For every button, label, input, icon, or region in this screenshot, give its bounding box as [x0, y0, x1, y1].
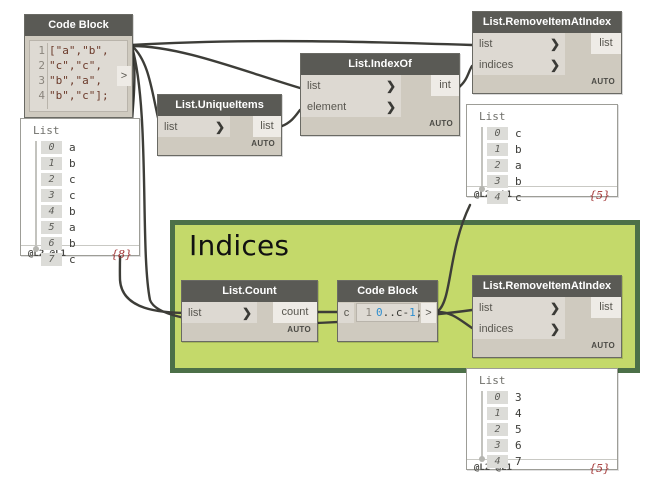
list-item: 3c	[41, 187, 133, 203]
list-item: 2c	[41, 171, 133, 187]
list-value: b	[515, 143, 522, 156]
port-label: list	[164, 121, 177, 133]
chevron-right-icon: ❯	[242, 307, 252, 319]
list-value: 3	[515, 391, 522, 404]
chevron-right-icon: ❯	[550, 38, 560, 50]
code-token: 1	[409, 306, 416, 319]
list-index: 2	[41, 173, 62, 186]
list-value: a	[69, 141, 76, 154]
list-item: 4b	[41, 203, 133, 219]
line-number: 1	[32, 43, 45, 58]
output-port-list[interactable]: list	[591, 297, 621, 318]
watch-removed-top[interactable]: List 0c 1b 2a 3b 4c @L2 @L1 {5}	[466, 104, 618, 197]
port-label: c	[344, 307, 350, 319]
list-item: 4c	[487, 189, 611, 205]
watch-type-label: List	[479, 110, 611, 123]
list-item: 1b	[41, 155, 133, 171]
input-port-element[interactable]: element ❯	[301, 96, 401, 117]
list-value: b	[515, 175, 522, 188]
code-editor[interactable]: 10..c-1;	[356, 303, 419, 322]
group-title: Indices	[175, 225, 635, 262]
node-title: List.RemoveItemAtIndex	[473, 12, 621, 33]
watch-type-label: List	[479, 374, 611, 387]
list-index: 4	[41, 205, 62, 218]
list-index: 0	[487, 391, 508, 404]
port-label: list	[479, 38, 492, 50]
node-list-count[interactable]: List.Count list ❯ count AUTO	[181, 280, 318, 342]
list-value: c	[515, 191, 522, 204]
list-value: b	[69, 157, 76, 170]
code-text: "b","a",	[49, 74, 102, 87]
code-text: "c","c",	[49, 59, 102, 72]
port-label: element	[307, 101, 346, 113]
list-index: 1	[41, 157, 62, 170]
list-index: 1	[487, 407, 508, 420]
node-lacing-label: AUTO	[473, 75, 621, 88]
list-item: 1b	[487, 141, 611, 157]
code-text: ["a","b",	[49, 44, 109, 57]
code-token: c	[396, 306, 403, 319]
list-item: 14	[487, 405, 611, 421]
list-index: 0	[41, 141, 62, 154]
node-list-removeitematindex-top[interactable]: List.RemoveItemAtIndex list ❯ list indic…	[472, 11, 622, 94]
input-port-indices[interactable]: indices ❯	[473, 54, 565, 75]
node-lacing-label: AUTO	[182, 323, 317, 336]
wire-cb1-to-removetop-list	[132, 41, 472, 45]
list-item: 6b	[41, 235, 133, 251]
list-item: 7c	[41, 251, 133, 267]
node-lacing-label: AUTO	[301, 117, 459, 130]
chevron-right-icon: ❯	[386, 80, 396, 92]
list-item: 36	[487, 437, 611, 453]
node-code-block-1[interactable]: Code Block 1["a","b", 2"c","c", 3"b","a"…	[24, 14, 133, 118]
list-value: 6	[515, 439, 522, 452]
input-port-list[interactable]: list ❯	[182, 302, 257, 323]
list-value: c	[515, 127, 522, 140]
chevron-right-icon: ❯	[215, 121, 225, 133]
code-token: ..	[383, 306, 396, 319]
chevron-right-icon: ❯	[550, 323, 560, 335]
list-item: 03	[487, 389, 611, 405]
code-line: 1["a","b",	[30, 43, 127, 58]
input-port-list[interactable]: list ❯	[473, 297, 565, 318]
list-spine	[481, 391, 483, 459]
watch-body: List 0c 1b 2a 3b 4c	[467, 105, 617, 186]
port-label: list	[188, 307, 201, 319]
list-index: 3	[41, 189, 62, 202]
list-item: 2a	[487, 157, 611, 173]
code-text: "b","c"];	[49, 89, 109, 102]
list-value: a	[69, 221, 76, 234]
input-port-c[interactable]: c	[338, 303, 354, 323]
list-value: a	[515, 159, 522, 172]
port-label: indices	[479, 323, 513, 335]
node-code-block-2[interactable]: Code Block c 10..c-1; >	[337, 280, 438, 342]
wire-indexof-to-removetop-indices	[458, 66, 472, 88]
code-token: 0	[376, 306, 383, 319]
list-value: c	[69, 189, 76, 202]
list-spine	[35, 141, 37, 249]
watch-type-label: List	[33, 124, 133, 137]
line-number: 4	[32, 88, 45, 103]
list-value: 4	[515, 407, 522, 420]
output-port-list[interactable]: list	[253, 116, 281, 137]
gutter-divider	[47, 43, 48, 109]
output-port-int[interactable]: int	[431, 75, 459, 96]
wire-cb1-to-unique-list	[132, 46, 160, 126]
list-value: c	[69, 173, 76, 186]
line-number: 1	[359, 305, 372, 321]
input-port-list[interactable]: list ❯	[158, 116, 230, 137]
code-line: 10..c-1;	[357, 305, 418, 321]
node-title: List.UniqueItems	[158, 95, 281, 116]
output-port-cb2[interactable]: >	[421, 303, 436, 323]
node-list-indexof[interactable]: List.IndexOf list ❯ int element ❯ AUTO	[300, 53, 460, 136]
chevron-right-icon: ❯	[550, 302, 560, 314]
list-index: 6	[41, 237, 62, 250]
list-index: 4	[487, 191, 508, 204]
list-item: 3b	[487, 173, 611, 189]
node-title: List.RemoveItemAtIndex	[473, 276, 621, 297]
list-spine	[481, 127, 483, 189]
list-item: 0a	[41, 139, 133, 155]
node-list-uniqueitems[interactable]: List.UniqueItems list ❯ list AUTO	[157, 94, 282, 156]
watch-removed-bottom[interactable]: List 03 14 25 36 47 @L2 @L1 {5}	[466, 368, 618, 470]
graph-canvas[interactable]: Indices Code	[0, 0, 650, 500]
code-line: 3"b","a",	[30, 73, 127, 88]
node-lacing-label: AUTO	[158, 137, 281, 150]
port-label: list	[307, 80, 320, 92]
list-index: 3	[487, 439, 508, 452]
list-value: 5	[515, 423, 522, 436]
list-index: 4	[487, 455, 508, 468]
list-index: 2	[487, 423, 508, 436]
list-index: 5	[41, 221, 62, 234]
input-port-list[interactable]: list ❯	[473, 33, 565, 54]
list-item: 47	[487, 453, 611, 469]
list-index: 7	[41, 253, 62, 266]
watch-source-list[interactable]: List 0a 1b 2c 3c 4b 5a 6b 7c @L2 @L1 {8}	[20, 118, 140, 256]
watch-body: List 0a 1b 2c 3c 4b 5a 6b 7c	[21, 119, 139, 245]
watch-body: List 03 14 25 36 47	[467, 369, 617, 459]
list-value: b	[69, 237, 76, 250]
list-item: 5a	[41, 219, 133, 235]
line-number: 2	[32, 58, 45, 73]
output-port-count[interactable]: count	[273, 302, 317, 323]
list-item: 0c	[487, 125, 611, 141]
list-index: 1	[487, 143, 508, 156]
list-index: 0	[487, 127, 508, 140]
output-port-list[interactable]: list	[591, 33, 621, 54]
node-title: Code Block	[25, 15, 132, 36]
output-port-cb1[interactable]: >	[117, 66, 131, 86]
wire-unique-to-indexof-element	[282, 110, 300, 126]
input-port-indices[interactable]: indices ❯	[473, 318, 565, 339]
list-index: 3	[487, 175, 508, 188]
list-value: 7	[515, 455, 522, 468]
node-list-removeitematindex-bottom[interactable]: List.RemoveItemAtIndex list ❯ list indic…	[472, 275, 622, 358]
code-line: 4"b","c"];	[30, 88, 127, 103]
list-index: 2	[487, 159, 508, 172]
list-value: c	[69, 253, 76, 266]
node-title: Code Block	[338, 281, 437, 302]
code-line: 2"c","c",	[30, 58, 127, 73]
code-editor[interactable]: 1["a","b", 2"c","c", 3"b","a", 4"b","c"]…	[29, 40, 128, 112]
node-title: List.IndexOf	[301, 54, 459, 75]
list-item: 25	[487, 421, 611, 437]
port-label: indices	[479, 59, 513, 71]
node-title: List.Count	[182, 281, 317, 302]
chevron-right-icon: ❯	[386, 101, 396, 113]
chevron-right-icon: ❯	[550, 59, 560, 71]
wire-cb1-to-indexof-list	[132, 46, 300, 88]
list-value: b	[69, 205, 76, 218]
node-lacing-label: AUTO	[473, 339, 621, 352]
input-port-list[interactable]: list ❯	[301, 75, 401, 96]
port-label: list	[479, 302, 492, 314]
line-number: 3	[32, 73, 45, 88]
